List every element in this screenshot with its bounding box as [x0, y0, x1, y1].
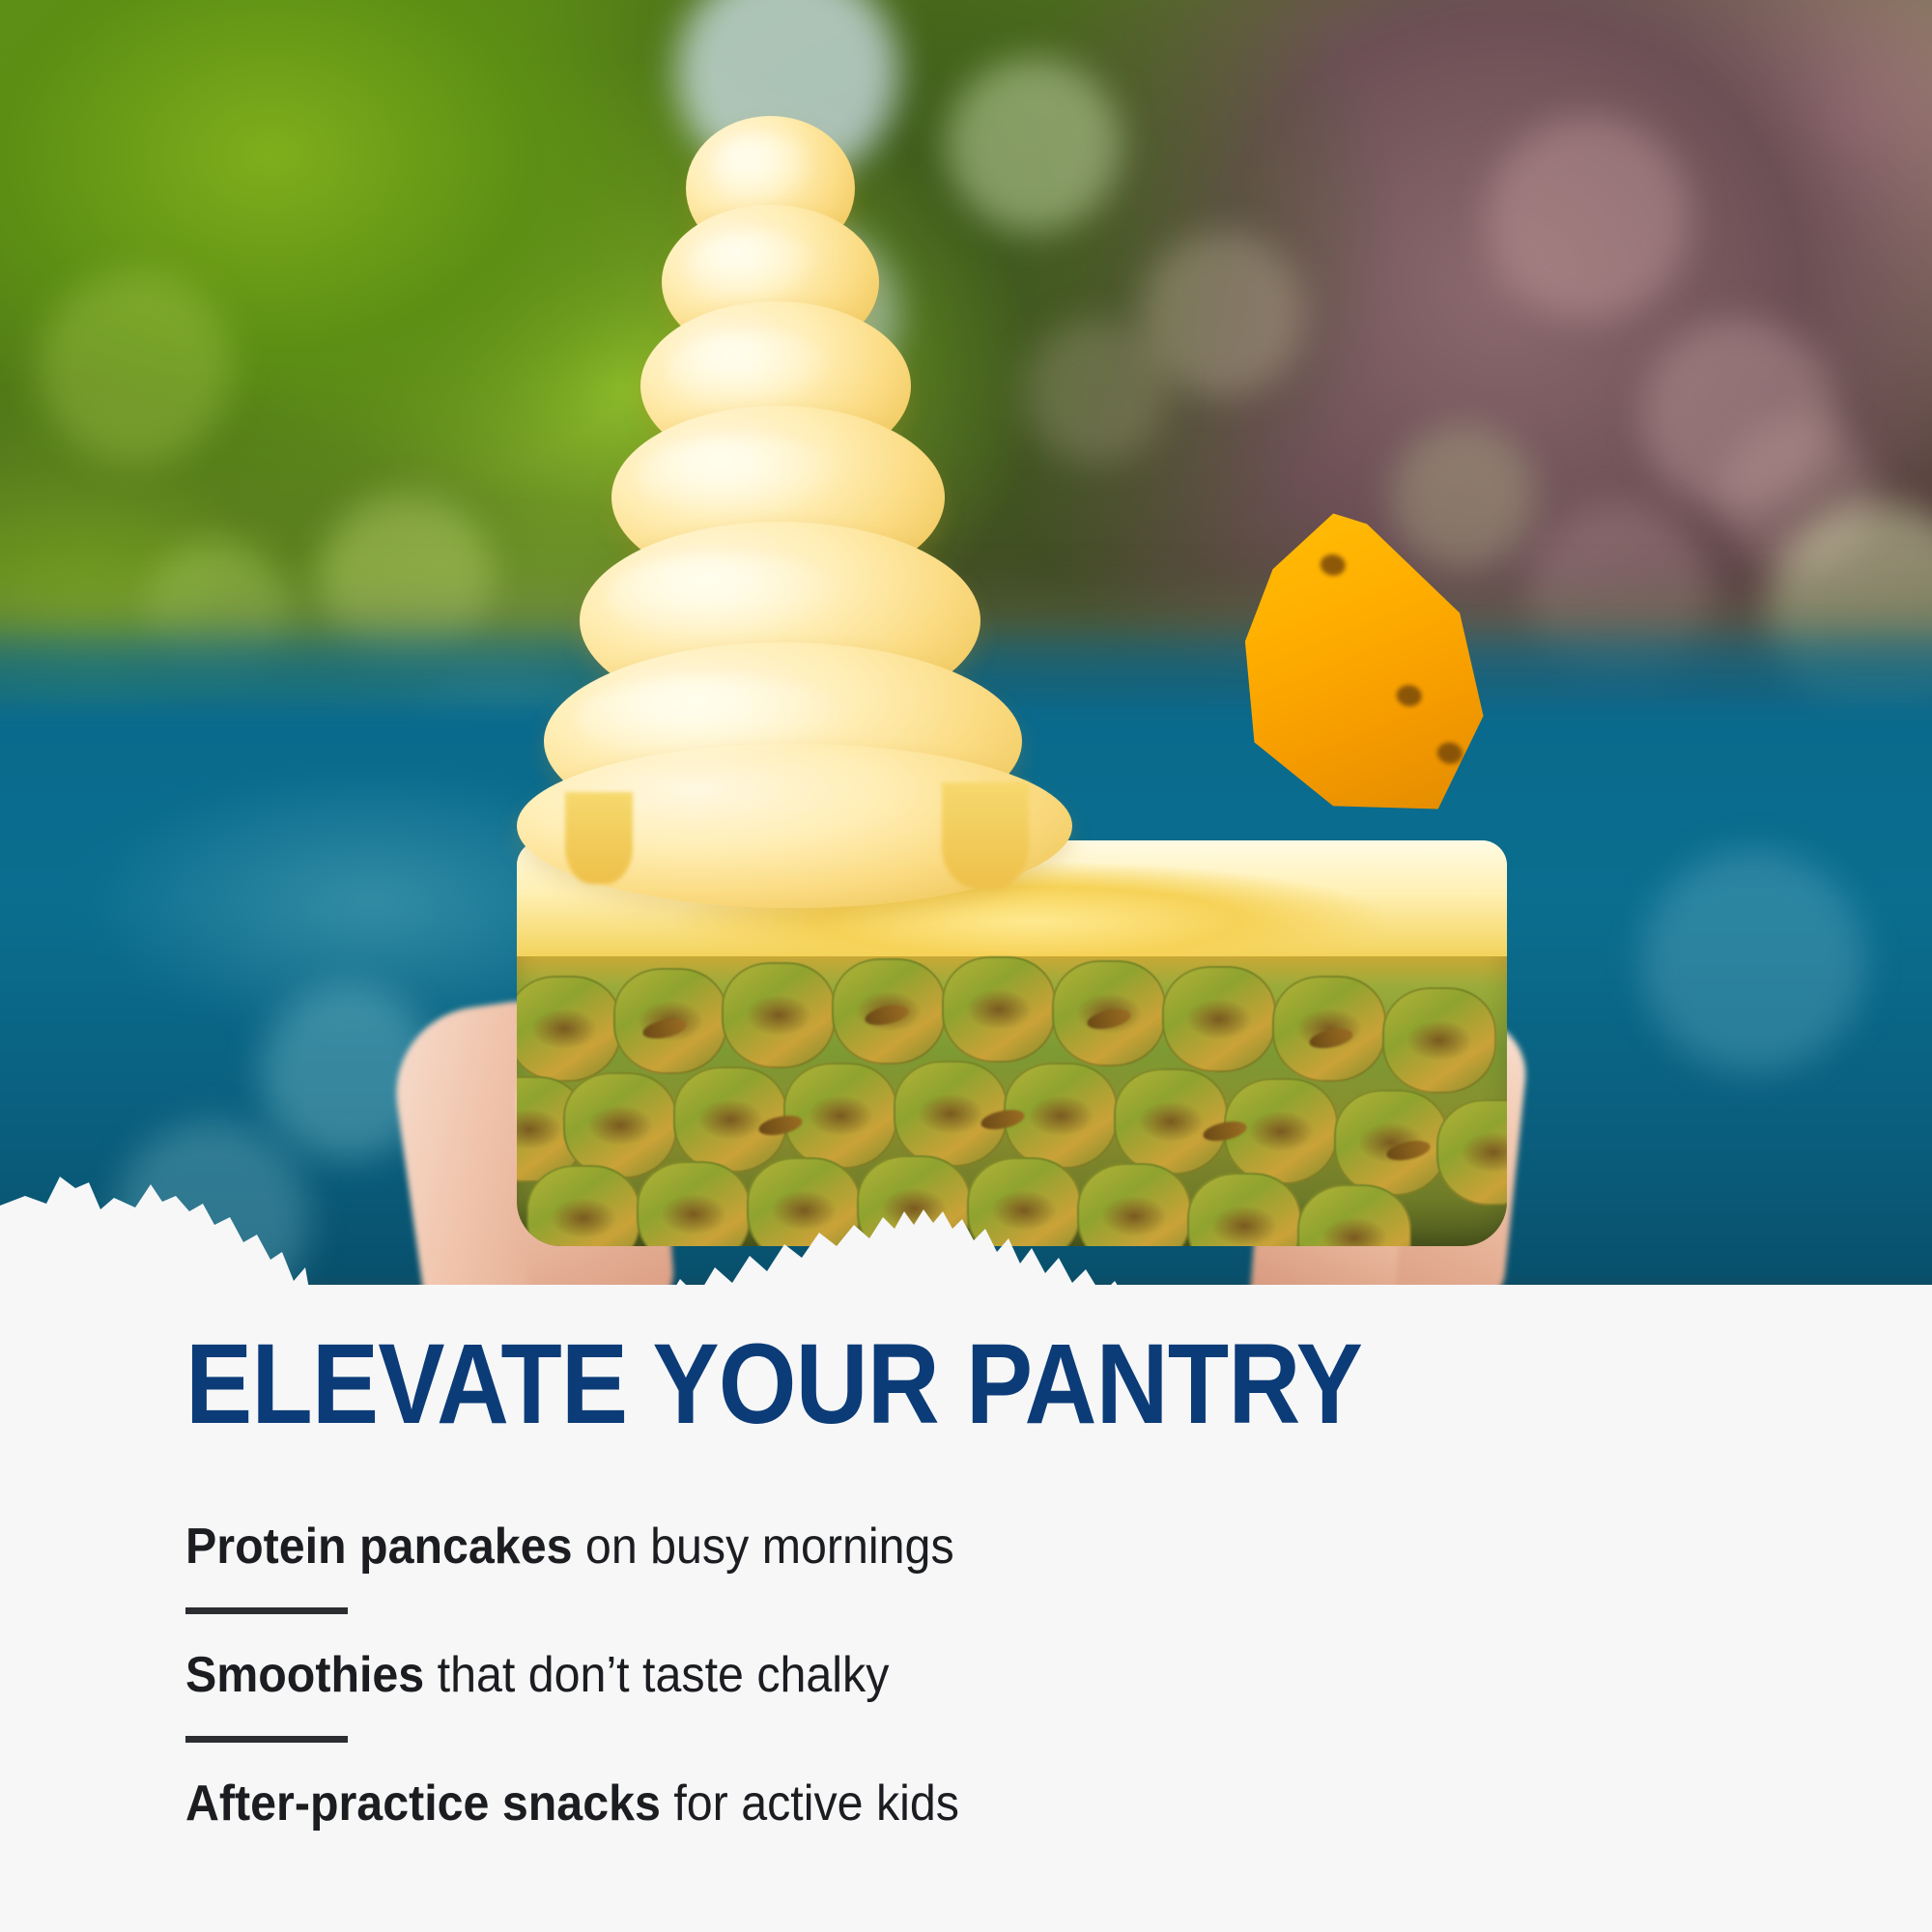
rind-cell	[722, 962, 836, 1068]
list-item: Smoothies that don’t taste chalky	[185, 1647, 1713, 1703]
list-item-rest: for active kids	[661, 1776, 959, 1832]
content-inner: ELEVATE YOUR PANTRY Protein pancakes on …	[185, 1285, 1828, 1833]
soft-serve-drip	[942, 782, 1029, 889]
list-item: After-practice snacks for active kids	[185, 1776, 1713, 1832]
pineapple-wedge-garnish	[1184, 498, 1512, 826]
list-item-lead: Smoothies	[185, 1647, 424, 1703]
wedge-shape	[1184, 498, 1512, 826]
list-item-lead: Protein pancakes	[185, 1519, 572, 1575]
rind-cell	[1162, 966, 1276, 1072]
swirl-highlight	[710, 133, 816, 211]
list-item: Protein pancakes on busy mornings	[185, 1519, 1713, 1575]
soft-serve-swirl	[526, 116, 1067, 879]
list-item-rest: that don’t taste chalky	[424, 1647, 889, 1703]
page-title: ELEVATE YOUR PANTRY	[185, 1285, 1631, 1441]
swirl-highlight	[667, 330, 836, 412]
poster-canvas: ELEVATE YOUR PANTRY Protein pancakes on …	[0, 0, 1932, 1932]
soft-serve-drip	[565, 792, 633, 884]
benefits-list: Protein pancakes on busy mornings Smooth…	[185, 1519, 1828, 1833]
list-divider	[185, 1607, 348, 1614]
rind-cell	[942, 956, 1056, 1063]
swirl-highlight	[575, 674, 855, 766]
list-item-rest: on busy mornings	[572, 1519, 953, 1575]
rind-cell	[1272, 976, 1386, 1082]
swirl-highlight	[686, 230, 821, 307]
list-divider	[185, 1736, 348, 1743]
rind-cell	[517, 976, 621, 1082]
swirl-highlight	[638, 435, 845, 522]
swirl-highlight	[606, 553, 847, 644]
rind-cell	[1382, 987, 1496, 1094]
content-panel: ELEVATE YOUR PANTRY Protein pancakes on …	[0, 1285, 1932, 1932]
list-item-lead: After-practice snacks	[185, 1776, 661, 1832]
